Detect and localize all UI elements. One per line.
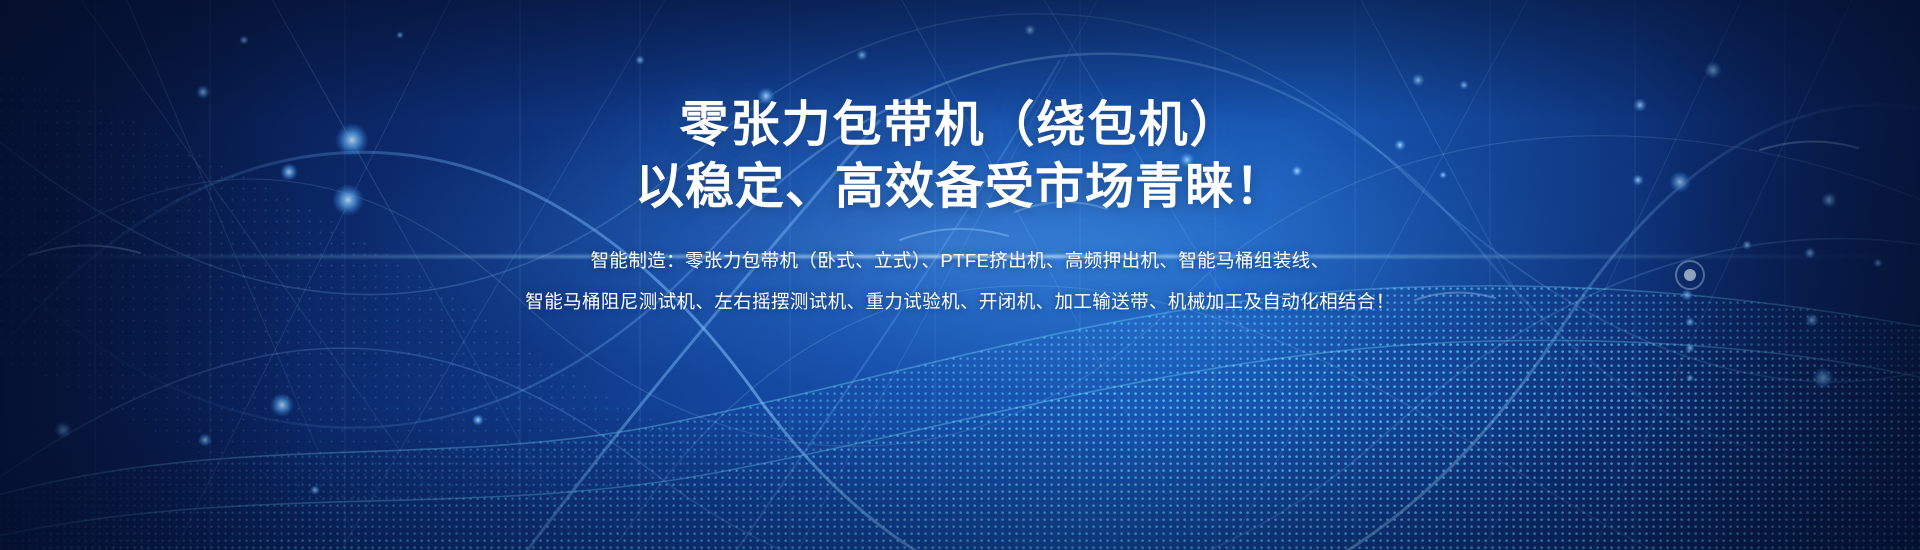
subtitle-block: 智能制造：零张力包带机（卧式、立式）、PTFE挤出机、高频押出机、智能马桶组装线… [525, 240, 1394, 322]
headline-line-2: 以稳定、高效备受市场青睐！ [635, 156, 1285, 218]
banner-content: 零张力包带机（绕包机） 以稳定、高效备受市场青睐！ 智能制造：零张力包带机（卧式… [0, 0, 1920, 550]
hero-banner: 零张力包带机（绕包机） 以稳定、高效备受市场青睐！ 智能制造：零张力包带机（卧式… [0, 0, 1920, 550]
headline-line-1: 零张力包带机（绕包机） [635, 94, 1285, 156]
headline-block: 零张力包带机（绕包机） 以稳定、高效备受市场青睐！ [635, 94, 1285, 218]
subtitle-line-2: 智能马桶阻尼测试机、左右摇摆测试机、重力试验机、开闭机、加工输送带、机械加工及自… [525, 281, 1394, 322]
subtitle-line-1: 智能制造：零张力包带机（卧式、立式）、PTFE挤出机、高频押出机、智能马桶组装线… [525, 240, 1394, 281]
